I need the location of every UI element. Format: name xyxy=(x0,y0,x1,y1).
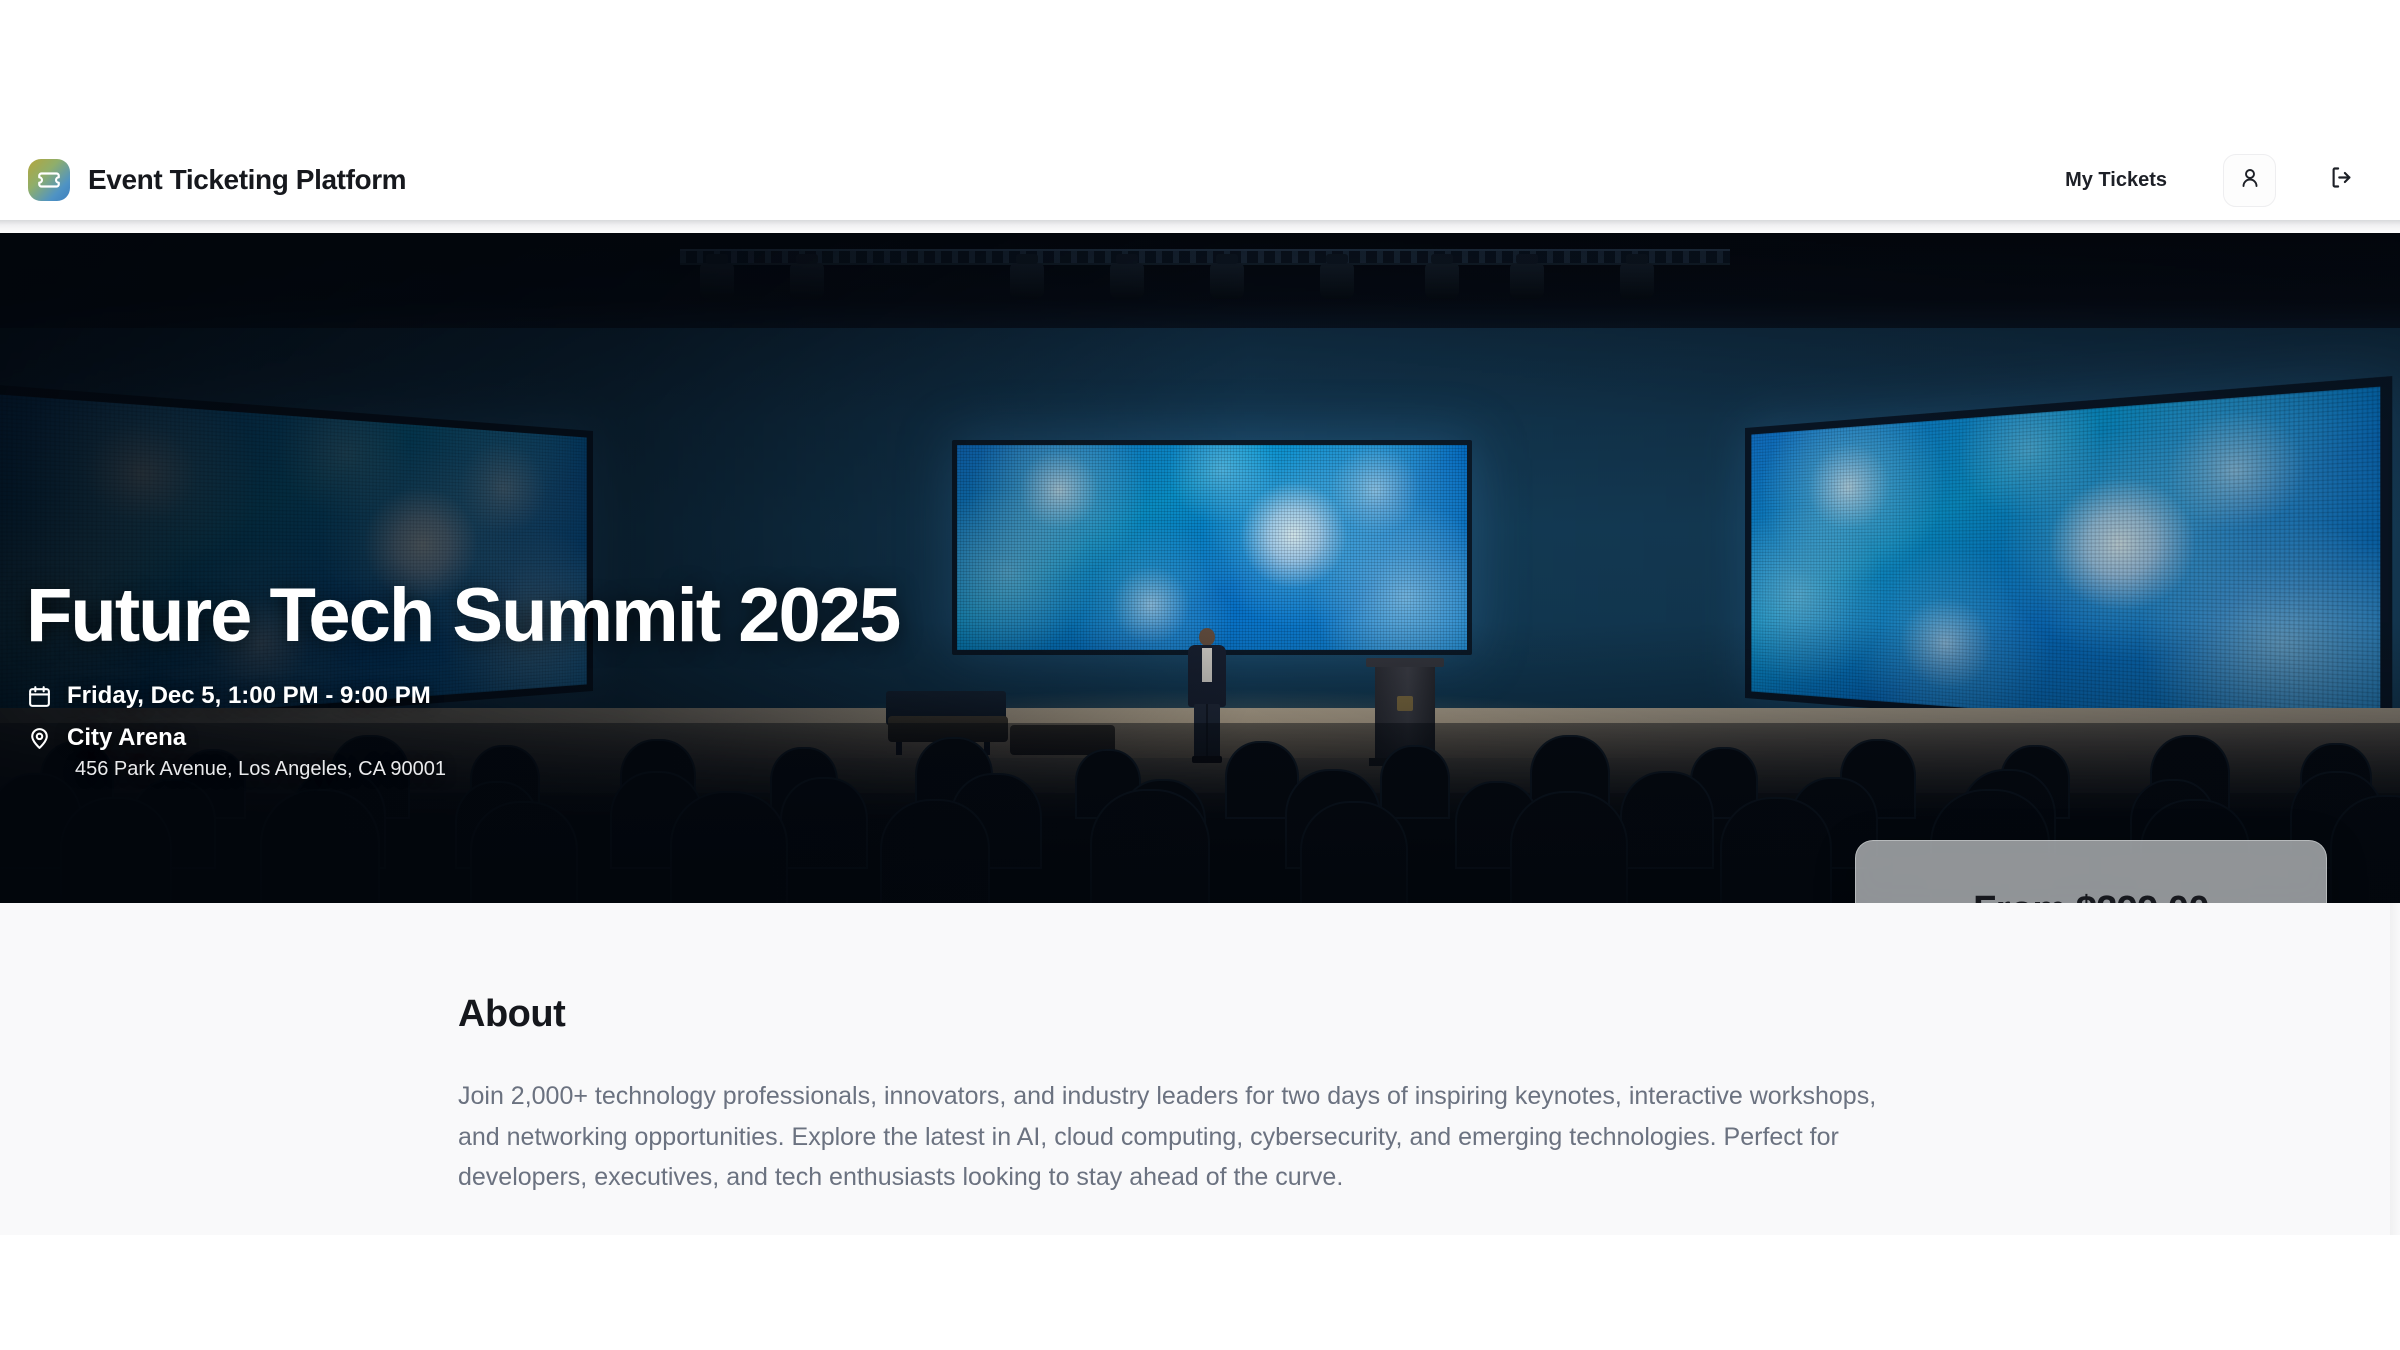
page-title: Future Tech Summit 2025 xyxy=(26,578,1126,654)
hero-text-block: Future Tech Summit 2025 Friday, Dec 5, 1… xyxy=(26,578,1126,781)
site-header: Event Ticketing Platform My Tickets xyxy=(0,140,2400,220)
venue-name: City Arena xyxy=(67,724,186,752)
ticket-price-card: From $299.00 Get Tickets xyxy=(1855,840,2327,903)
brand-title: Event Ticketing Platform xyxy=(88,164,406,196)
event-date-text: Friday, Dec 5, 1:00 PM - 9:00 PM xyxy=(67,682,431,710)
calendar-icon xyxy=(26,683,52,709)
map-pin-icon xyxy=(26,725,52,751)
about-description: Join 2,000+ technology professionals, in… xyxy=(458,1076,1908,1198)
hero-background-image xyxy=(0,233,2400,903)
brand[interactable]: Event Ticketing Platform xyxy=(28,159,406,201)
header-actions: My Tickets xyxy=(2055,154,2372,207)
logout-icon xyxy=(2328,164,2355,196)
about-section: About Join 2,000+ technology professiona… xyxy=(0,903,2400,1235)
user-icon xyxy=(2238,166,2262,195)
venue-address: 456 Park Avenue, Los Angeles, CA 90001 xyxy=(75,758,1126,781)
event-date-row: Friday, Dec 5, 1:00 PM - 9:00 PM xyxy=(26,682,1126,710)
about-heading: About xyxy=(458,993,1908,1036)
price-from-label: From $299.00 xyxy=(1973,889,2209,904)
page-viewport: Event Ticketing Platform My Tickets xyxy=(0,0,2400,1350)
logout-button[interactable] xyxy=(2318,157,2364,203)
nav-my-tickets[interactable]: My Tickets xyxy=(2055,161,2177,200)
content-right-edge xyxy=(2390,903,2400,1235)
account-button[interactable] xyxy=(2223,154,2276,207)
ticket-icon xyxy=(28,159,70,201)
event-venue-row: City Arena xyxy=(26,724,1126,752)
hero-banner: Future Tech Summit 2025 Friday, Dec 5, 1… xyxy=(0,233,2400,903)
page-bottom-whitespace xyxy=(0,1235,2400,1350)
browser-chrome-strip xyxy=(0,0,2400,140)
header-shadow xyxy=(0,220,2400,233)
